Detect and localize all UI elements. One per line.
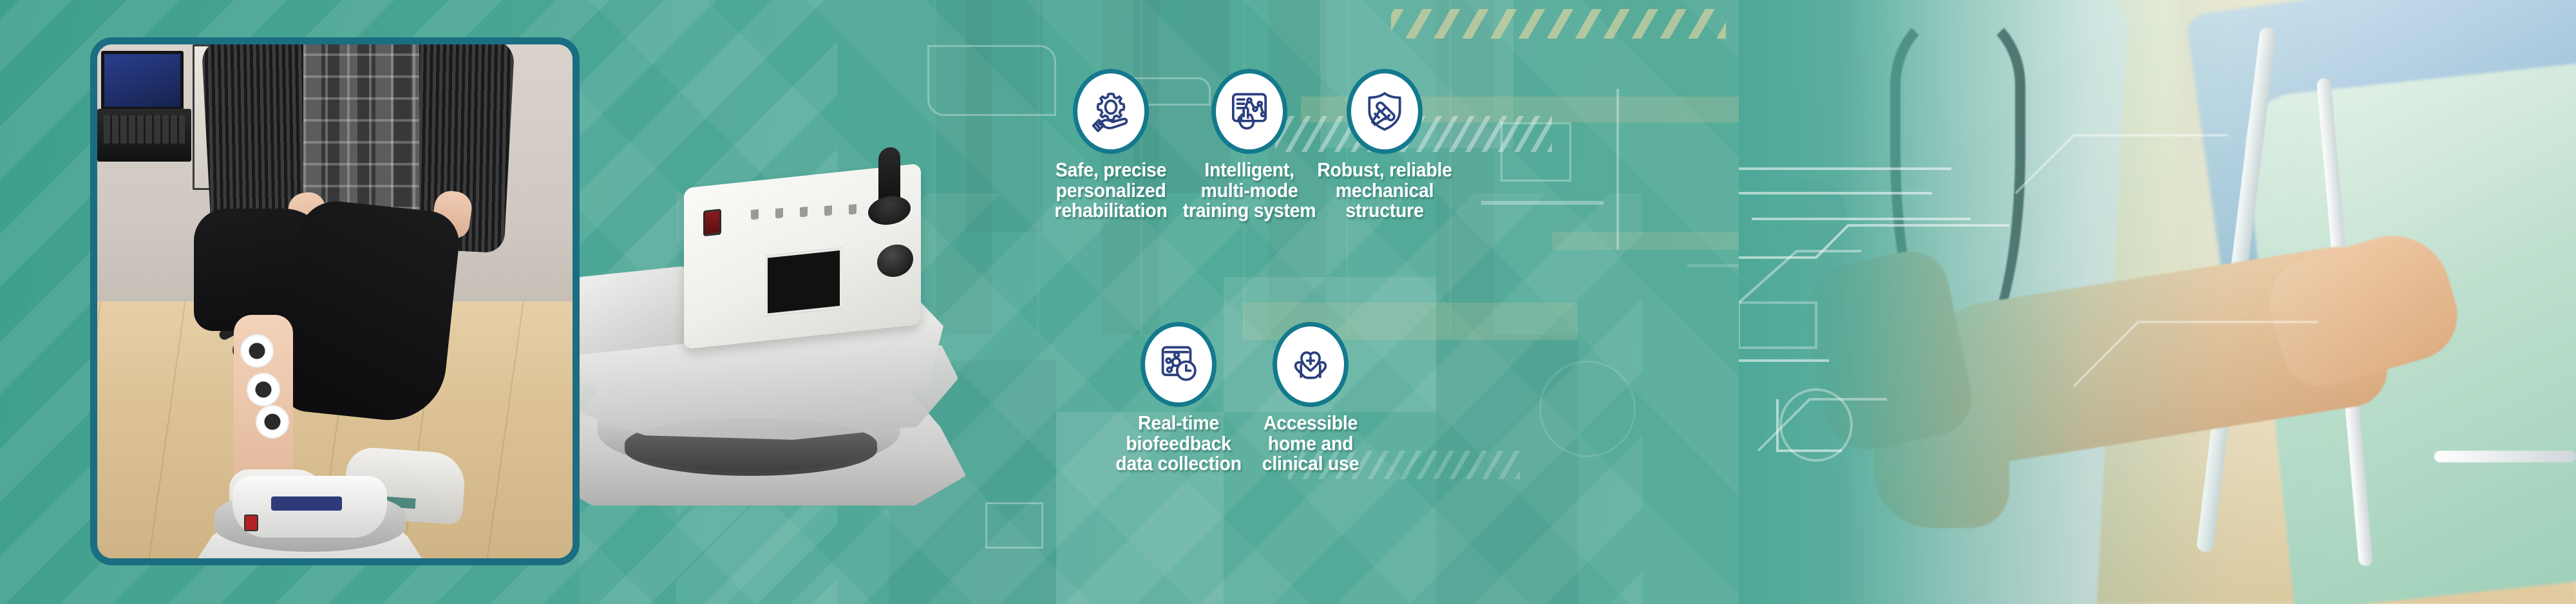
feature-label: Robust, reliable mechanical structure	[1296, 160, 1473, 221]
touchscreen-chart-icon	[1211, 69, 1287, 154]
chart-clock-icon	[1141, 322, 1217, 407]
feature-list: Safe, precise personalized rehabilitatio…	[0, 0, 2576, 604]
product-feature-banner: Safe, precise personalized rehabilitatio…	[0, 0, 2576, 604]
hands-heart-cross-icon	[1273, 322, 1349, 407]
feature-label: Accessible home and clinical use	[1222, 413, 1399, 474]
feature-accessible-use[interactable]: Accessible home and clinical use	[1214, 322, 1407, 474]
feature-robust-reliable[interactable]: Robust, reliable mechanical structure	[1288, 69, 1481, 221]
gear-in-hand-icon	[1073, 69, 1149, 154]
shield-hammer-icon	[1347, 69, 1423, 154]
